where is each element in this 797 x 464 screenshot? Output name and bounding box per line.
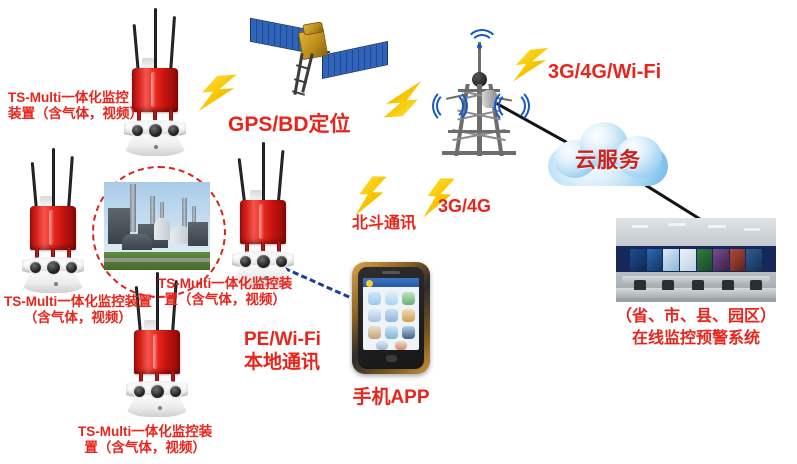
label-sensor-bottom-line1: TS-Multi一体化监控装: [78, 424, 212, 440]
phone-app-icon-6: [402, 309, 415, 322]
device-sensor-port-3: [66, 262, 77, 273]
device-sensor-port-2: [151, 385, 164, 398]
video-wall-panel-7: [730, 249, 746, 271]
phone-speaker: [382, 271, 400, 274]
room-chair-1: [634, 280, 646, 290]
iot-architecture-diagram: 云服务: [0, 0, 797, 464]
phone-app-icon-2: [385, 292, 398, 305]
video-wall-panel-4: [680, 249, 696, 271]
plant-chimney-tall: [130, 184, 136, 232]
phone-app-icon-5: [385, 309, 398, 322]
label-beidou: 北斗通讯: [352, 214, 416, 234]
label-local-comm-line2: 本地通讯: [244, 351, 321, 374]
label-center-system-line1: （省、市、县、园区）: [596, 306, 796, 328]
plant-building-right: [188, 222, 208, 246]
device-vent-dot: [54, 282, 58, 286]
device-body: [240, 200, 286, 244]
phone-app-icon-10: [376, 341, 388, 350]
room-ceiling-light-2: [668, 223, 686, 226]
lightning-bolt-icon-beidou: [351, 175, 386, 216]
room-chair-3: [692, 280, 704, 290]
satellite-icon: [248, 8, 388, 108]
phone-app-icon-3: [402, 292, 415, 305]
wifi-dot-top: [477, 44, 482, 49]
video-wall: [630, 249, 762, 271]
plant-tank-1: [154, 218, 170, 240]
label-sensor-top-line1: TS-Multi一体化监控: [8, 90, 143, 106]
device-sensor-port-1: [30, 262, 41, 273]
phone-app-icon-11: [395, 341, 407, 350]
phone-app-icon-8: [385, 326, 398, 339]
industrial-plant-photo: [104, 182, 210, 270]
label-center-system-line2: 在线监控预警系统: [596, 328, 796, 350]
label-3g-4g-wifi: 3G/4G/Wi-Fi: [548, 60, 661, 84]
monitoring-device-icon-3: [218, 142, 310, 288]
label-3g-4g: 3G/4G: [438, 196, 491, 218]
device-sensor-port-1: [132, 125, 143, 136]
device-sensor-port-3: [168, 125, 179, 136]
label-sensor-top-line2: 装置（含气体，视频）: [8, 106, 143, 122]
phone-app-icon-1: [368, 292, 381, 305]
label-phone-app: 手机APP: [352, 386, 430, 409]
wifi-waves-icon-right-2: [494, 88, 530, 124]
label-sensor-left-line2: （含气体，视频）: [4, 310, 152, 326]
room-chair-5: [750, 280, 762, 290]
label-sensor-top: TS-Multi一体化监控 装置（含气体，视频）: [8, 90, 143, 123]
device-cone: [124, 120, 186, 156]
room-ceiling-light-4: [744, 228, 760, 231]
device-cap: [142, 58, 154, 68]
device-cone: [22, 257, 84, 293]
device-sensor-port-3: [276, 256, 287, 267]
label-sensor-mid-line1: TS-Multi一体化监控装: [158, 276, 292, 292]
plant-shed: [122, 234, 152, 250]
device-sensor-port-3: [170, 386, 181, 397]
label-gps-bd: GPS/BD定位: [228, 112, 351, 138]
monitoring-device-icon-2: [8, 148, 100, 294]
device-sensor-port-1: [134, 386, 145, 397]
label-center-system: （省、市、县、园区） 在线监控预警系统: [596, 306, 796, 349]
phone-app-icon-4: [368, 309, 381, 322]
device-body: [30, 206, 76, 250]
phone-screen: [363, 278, 419, 350]
device-sensor-port-2: [257, 255, 270, 268]
device-body: [134, 330, 180, 374]
room-ceiling: [616, 218, 776, 246]
device-skirt: [22, 271, 84, 293]
cell-tower-icon: [432, 18, 528, 158]
device-cap: [40, 196, 52, 206]
lightning-bolt-icon-satellite-tower: [381, 80, 429, 117]
device-skirt: [126, 395, 188, 417]
video-wall-panel-1: [630, 249, 646, 271]
tower-base: [442, 151, 516, 155]
video-wall-panel-8: [746, 249, 762, 271]
device-cone: [126, 381, 188, 417]
label-sensor-bottom: TS-Multi一体化监控装 置（含气体，视频）: [78, 424, 212, 457]
label-sensor-mid: TS-Multi一体化监控装 置（含气体，视频）: [158, 276, 292, 309]
label-sensor-left: TS-Multi一体化监控装置 （含气体，视频）: [4, 294, 152, 327]
monitoring-device-icon-1: [110, 6, 202, 156]
rugged-phone-icon: [352, 262, 430, 374]
room-ceiling-light-1: [632, 225, 648, 228]
phone-app-icon-7: [368, 326, 381, 339]
device-cap: [250, 190, 262, 200]
video-wall-panel-5: [697, 249, 713, 271]
phone-home-button[interactable]: [386, 355, 397, 362]
cloud-icon: 云服务: [546, 118, 670, 190]
plant-tank-2: [170, 226, 190, 244]
device-vent-dot: [154, 145, 158, 149]
video-wall-panel-6: [713, 249, 729, 271]
device-sensor-port-1: [240, 256, 251, 267]
room-ceiling-light-3: [708, 225, 726, 228]
video-wall-panel-2: [647, 249, 663, 271]
satellite-panel-right: [322, 41, 388, 79]
control-room-photo: [616, 218, 776, 302]
device-vent-dot: [158, 406, 162, 410]
video-wall-panel-3: [663, 249, 679, 271]
tower-platform-low: [448, 130, 510, 133]
label-sensor-bottom-line2: 置（含气体，视频）: [78, 440, 212, 456]
label-sensor-mid-line2: 置（含气体，视频）: [158, 292, 292, 308]
label-sensor-left-line1: TS-Multi一体化监控装置: [4, 294, 152, 310]
label-local-comm-line1: PE/Wi-Fi: [244, 328, 321, 351]
device-sensor-port-2: [149, 124, 162, 137]
phone-app-icon-9: [402, 326, 415, 339]
phone-app-logo-icon: [366, 280, 373, 287]
plant-road: [104, 258, 210, 262]
wifi-waves-icon-left-2: [432, 88, 468, 124]
device-sensor-port-2: [47, 261, 60, 274]
room-chair-4: [722, 280, 734, 290]
cloud-label: 云服务: [546, 144, 670, 174]
room-chair-2: [662, 280, 674, 290]
wifi-waves-icon-top-2: [465, 29, 499, 63]
label-local-comm: PE/Wi-Fi 本地通讯: [244, 328, 321, 374]
